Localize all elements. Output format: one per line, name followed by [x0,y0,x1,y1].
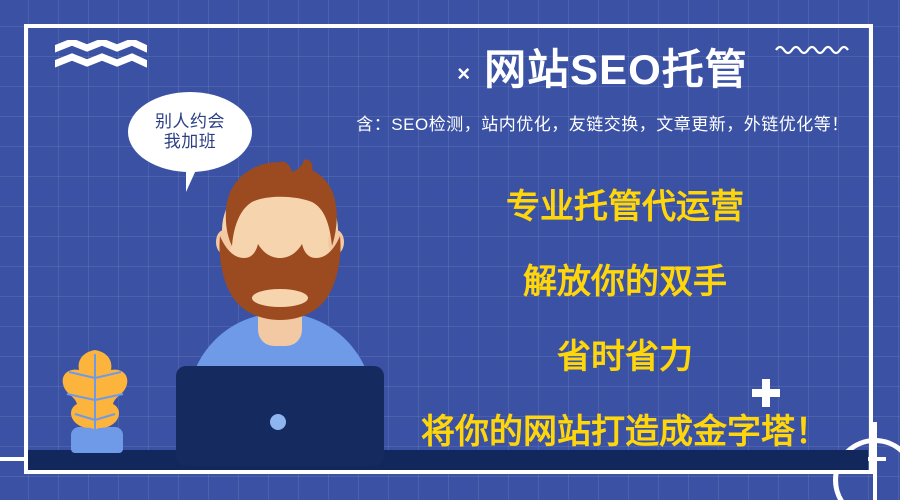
speech-bubble-text: 别人约会 我加班 [128,92,252,172]
speech-bubble-line-2: 我加班 [164,132,217,152]
close-x-icon: × [457,63,470,85]
headline-block: × 网站SEO托管 含：SEO检测，站内优化，友链交换，文章更新，外链优化等！ [330,46,875,135]
slogan-item: 专业托管代运营 [400,190,850,224]
slogan-list: 专业托管代运营 解放你的双手 省时省力 将你的网站打造成金字塔！ [400,190,850,449]
plant-leaf [55,348,135,434]
title-row: × 网站SEO托管 [330,46,875,94]
page-title: 网站SEO托管 [484,46,748,94]
slogan-item: 将你的网站打造成金字塔！ [400,415,850,449]
laptop-icon [176,366,384,466]
slogan-item: 省时省力 [400,340,850,374]
page-subtitle: 含：SEO检测，站内优化，友链交换，文章更新，外链优化等！ [330,110,875,135]
person-beard [216,236,344,322]
speech-bubble-line-1: 别人约会 [155,112,225,132]
speech-bubble: 别人约会 我加班 [128,92,252,172]
seo-hosting-banner: 别人约会 我加班 × 网站SEO托管 含：SEO检测，站内优化，友链交换，文章更… [0,0,900,500]
crosshair-vertical-line [873,422,877,500]
desk-surface [28,450,868,472]
laptop-logo-dot [270,414,286,430]
double-wave-icon [55,40,147,75]
potted-plant-icon [55,348,135,453]
slogan-item: 解放你的双手 [400,265,850,299]
bearded-man-avatar-icon [160,158,400,458]
